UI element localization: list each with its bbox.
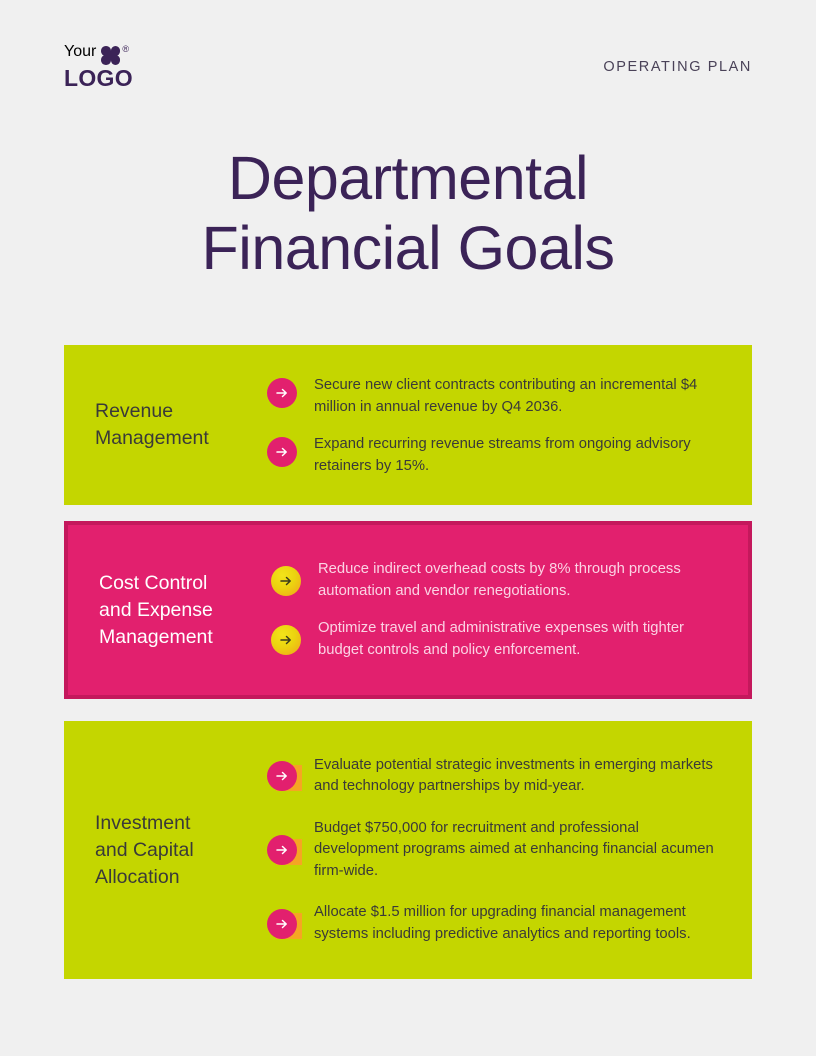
section-title-line: Investment [95, 810, 264, 837]
page-title: Departmental Financial Goals [0, 143, 816, 283]
bullet-list-revenue-management: Secure new client contracts contributing… [264, 373, 752, 477]
bullet-text: Reduce indirect overhead costs by 8% thr… [318, 559, 718, 602]
page-header: Your ® LOGO OPERATING PLAN [64, 44, 752, 90]
list-item: Expand recurring revenue streams from on… [264, 434, 722, 477]
document-type-label: OPERATING PLAN [603, 59, 752, 75]
section-title-line: Management [95, 425, 264, 452]
arrow-right-icon [268, 563, 304, 599]
poster-page: Your ® LOGO OPERATING PLAN Departmental … [0, 0, 816, 1056]
logo-brand-text: LOGO [64, 66, 133, 90]
bullet-text: Evaluate potential strategic investments… [314, 755, 722, 798]
bullet-list-cost-control: Reduce indirect overhead costs by 8% thr… [268, 559, 748, 661]
section-title-line: and Expense [99, 597, 268, 624]
section-title-cost-control: Cost Control and Expense Management [68, 570, 268, 651]
list-item: Allocate $1.5 million for upgrading fina… [264, 902, 722, 945]
bullet-text: Allocate $1.5 million for upgrading fina… [314, 902, 722, 945]
bullet-text: Expand recurring revenue streams from on… [314, 434, 722, 477]
section-title-line: Cost Control [99, 570, 268, 597]
section-title-line: Management [99, 624, 268, 651]
bullet-list-investment-capital: Evaluate potential strategic investments… [264, 755, 752, 946]
page-title-line-1: Departmental [0, 143, 816, 213]
page-title-line-2: Financial Goals [0, 213, 816, 283]
section-title-line: and Capital [95, 837, 264, 864]
section-title-line: Revenue [95, 398, 264, 425]
section-title-line: Allocation [95, 864, 264, 891]
logo-your-text: Your [64, 44, 96, 60]
arrow-right-icon [264, 375, 300, 411]
section-title-revenue-management: Revenue Management [64, 398, 264, 452]
registered-trademark-icon: ® [122, 44, 129, 54]
arrow-right-icon [264, 832, 300, 868]
section-title-investment-capital: Investment and Capital Allocation [64, 810, 264, 891]
clover-icon [101, 46, 120, 65]
bullet-text: Secure new client contracts contributing… [314, 375, 722, 418]
list-item: Reduce indirect overhead costs by 8% thr… [268, 559, 718, 602]
list-item: Secure new client contracts contributing… [264, 375, 722, 418]
goal-sections: Revenue Management Secure new client con… [64, 345, 752, 979]
logo-top-row: Your ® [64, 44, 133, 65]
arrow-right-icon [264, 758, 300, 794]
list-item: Optimize travel and administrative expen… [268, 618, 718, 661]
arrow-right-icon [264, 434, 300, 470]
list-item: Budget $750,000 for recruitment and prof… [264, 818, 722, 883]
section-investment-capital: Investment and Capital Allocation Evalua… [64, 721, 752, 979]
list-item: Evaluate potential strategic investments… [264, 755, 722, 798]
logo[interactable]: Your ® LOGO [64, 44, 133, 90]
arrow-right-icon [264, 906, 300, 942]
arrow-right-icon [268, 622, 304, 658]
section-revenue-management: Revenue Management Secure new client con… [64, 345, 752, 505]
bullet-text: Optimize travel and administrative expen… [318, 618, 718, 661]
section-cost-control: Cost Control and Expense Management Redu… [64, 521, 752, 699]
bullet-text: Budget $750,000 for recruitment and prof… [314, 818, 722, 883]
